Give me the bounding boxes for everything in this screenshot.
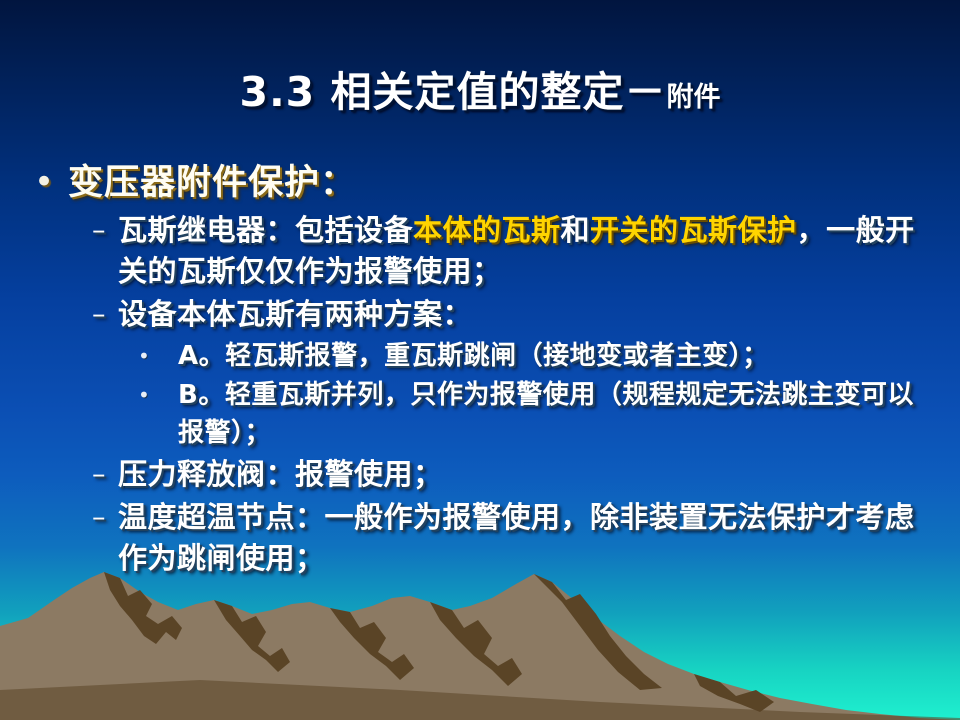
scheme-a-item-label: A。轻瓦斯报警，重瓦斯跳闸（接地变或者主变）； [178, 337, 769, 375]
mountain-light-ridge [0, 572, 960, 720]
plain-text: A。轻瓦斯报警，重瓦斯跳闸（接地变或者主变）； [178, 341, 769, 371]
scheme-a-item: • A。轻瓦斯报警，重瓦斯跳闸（接地变或者主变）； [138, 337, 934, 375]
gas-relay-item-label: 瓦斯继电器：包括设备本体的瓦斯和开关的瓦斯保护，一般开关的瓦斯仅仅作为报警使用； [118, 210, 918, 292]
plain-text: 和 [561, 213, 591, 247]
over-temperature-node-item-label: 温度超温节点：一般作为报警使用，除非装置无法保护才考虑作为跳闸使用； [118, 497, 918, 579]
mountain-dark-shadow-peak-right [534, 574, 662, 690]
gas-relay-item: –瓦斯继电器：包括设备本体的瓦斯和开关的瓦斯保护，一般开关的瓦斯仅仅作为报警使用… [92, 210, 934, 292]
mountain-base-band [0, 680, 960, 720]
bullet-marker-icon: – [92, 454, 118, 495]
bullet-level1-transformer-accessory-protection: • 变压器附件保护： [34, 160, 934, 206]
over-temperature-node-item: –温度超温节点：一般作为报警使用，除非装置无法保护才考虑作为跳闸使用； [92, 497, 934, 579]
bullet-marker-icon: • [138, 337, 178, 375]
mountain-dark-shadow-mid-b [330, 608, 414, 680]
mountain-dark-shadow-left [104, 572, 182, 644]
plain-text: B。轻重瓦斯并列，只作为报警使用（规程规定无法跳主变可以报警）； [178, 380, 914, 448]
bullet-marker-icon: – [92, 210, 118, 251]
plain-text: 温度超温节点：一般作为报警使用，除非装置无法保护才考虑作为跳闸使用； [118, 500, 915, 575]
slide-body: • 变压器附件保护： –瓦斯继电器：包括设备本体的瓦斯和开关的瓦斯保护，一般开关… [34, 160, 934, 581]
mountain-dark-shadow-mid-a [214, 600, 290, 672]
highlighted-text: 本体的瓦斯 [413, 213, 561, 247]
body-gas-schemes-item-label: 设备本体瓦斯有两种方案： [118, 294, 472, 335]
pressure-relief-valve-item: –压力释放阀：报警使用； [92, 454, 934, 495]
plain-text: 瓦斯继电器：包括设备 [118, 213, 413, 247]
bullet-marker-icon: – [92, 294, 118, 335]
plain-text: 设备本体瓦斯有两种方案： [118, 297, 472, 331]
mountain-dark-shadow-mid-c [430, 602, 522, 686]
bullet-marker-icon: • [34, 160, 68, 204]
plain-text: 压力释放阀：报警使用； [118, 457, 443, 491]
body-gas-schemes-item: –设备本体瓦斯有两种方案： [92, 294, 934, 335]
slide-title: 3.3 相关定值的整定－附件 [0, 58, 960, 118]
bullet-level1-label: 变压器附件保护： [68, 160, 356, 206]
highlighted-text: 开关的瓦斯保护 [590, 213, 797, 247]
title-main-text: 3.3 相关定值的整定－ [240, 68, 667, 116]
mountain-dark-shadow-far-right [694, 674, 774, 712]
bullet-list: –瓦斯继电器：包括设备本体的瓦斯和开关的瓦斯保护，一般开关的瓦斯仅仅作为报警使用… [34, 210, 934, 579]
scheme-b-item-label: B。轻重瓦斯并列，只作为报警使用（规程规定无法跳主变可以报警）； [178, 376, 934, 452]
pressure-relief-valve-item-label: 压力释放阀：报警使用； [118, 454, 443, 495]
presentation-slide: 3.3 相关定值的整定－附件 • 变压器附件保护： –瓦斯继电器：包括设备本体的… [0, 0, 960, 720]
title-sub-text: 附件 [666, 82, 720, 113]
scheme-b-item: • B。轻重瓦斯并列，只作为报警使用（规程规定无法跳主变可以报警）； [138, 376, 934, 452]
bullet-marker-icon: – [92, 497, 118, 538]
bullet-marker-icon: • [138, 376, 178, 414]
